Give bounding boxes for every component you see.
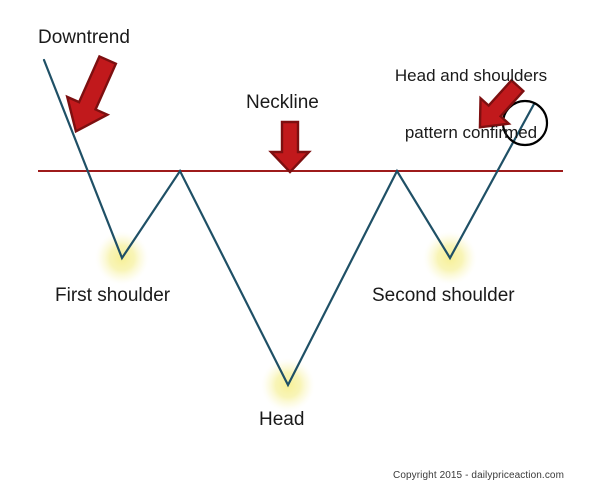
neckline-arrow-icon bbox=[271, 122, 309, 172]
highlight-glows bbox=[94, 230, 478, 413]
diagram-canvas: Downtrend Neckline Head and shoulders pa… bbox=[0, 0, 600, 500]
label-downtrend: Downtrend bbox=[38, 27, 130, 48]
label-first-shoulder: First shoulder bbox=[55, 285, 170, 306]
label-neckline: Neckline bbox=[246, 92, 319, 113]
label-head: Head bbox=[259, 409, 304, 430]
label-pattern-confirmed-line2: pattern confirmed bbox=[375, 123, 567, 142]
copyright-notice: Copyright 2015 - dailypriceaction.com bbox=[393, 470, 564, 481]
label-pattern-confirmed: Head and shoulders pattern confirmed bbox=[375, 28, 567, 180]
label-pattern-confirmed-line1: Head and shoulders bbox=[375, 66, 567, 85]
label-second-shoulder: Second shoulder bbox=[372, 285, 515, 306]
downtrend-arrow-icon bbox=[56, 51, 128, 140]
